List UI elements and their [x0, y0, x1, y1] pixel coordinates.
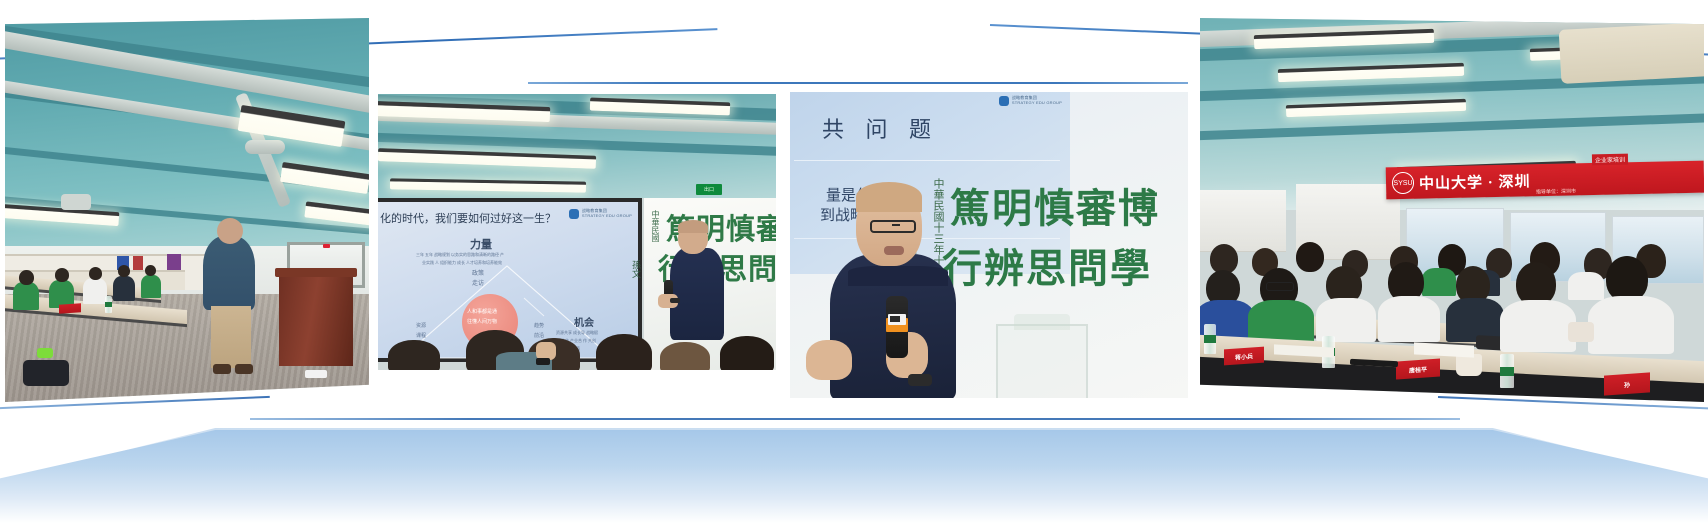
audience-head [720, 336, 774, 370]
slide-circle-line-2: 往懂人间万物 [467, 318, 497, 325]
sysu-seal-icon: SYSU [1392, 172, 1414, 194]
name-card-1: 蒋小兵 [1224, 347, 1264, 366]
slide-logo-mark [999, 96, 1009, 106]
photo-participants-room[interactable]: SYSU 中山大学 · 深圳 企业家培训 指导单位：深圳市 [1200, 18, 1704, 402]
slide-headline: 共 问 题 [822, 112, 939, 144]
audience-head [660, 342, 710, 370]
window-blind-1 [1200, 190, 1286, 252]
photo-speaker-closeup[interactable]: 战略教育集团 STRATEGY EDU GROUP 共 问 题 量是什么？ 到战… [790, 92, 1188, 398]
red-banner-top-right-text: 企业家培训 [1592, 154, 1628, 166]
audience-head [388, 340, 440, 370]
ceiling-pipe-junction [245, 140, 285, 154]
slide-logo-mark [569, 209, 579, 219]
table-name-card [59, 303, 81, 314]
slide-logo: 战略教育集团 STRATEGY EDU GROUP [569, 209, 632, 219]
water-bottle [1204, 324, 1216, 354]
slide-logo-text-2: STRATEGY EDU GROUP [1012, 100, 1062, 105]
slide-node-top-sub-1: 三年 五年 战略规划 以务实的思路和清晰的路径 产 [416, 252, 504, 258]
slide-node-right-2: 前沿 [534, 332, 544, 339]
name-card-2: 唐桂平 [1396, 358, 1440, 379]
blue-gradient-band [0, 430, 1708, 523]
red-banner-main-text: 中山大学 · 深圳 [1419, 170, 1531, 193]
slide-node-center-top-2: 走访 [472, 278, 484, 287]
slide-logo-text-2: STRATEGY EDU GROUP [582, 213, 632, 218]
photo-banner-stage: 出口 战略教育集团 STRATEGY EDU GROUP 化的时代，我们要如何过… [0, 0, 1708, 523]
eyeglasses-icon [1266, 282, 1294, 291]
calligraphy-side-right: 中華民國 [650, 210, 661, 242]
calligraphy-col-2: 行辨思問學 [942, 236, 1152, 294]
slide-headline: 化的时代，我们要如何过好这一生？ [380, 210, 556, 226]
name-card-label: 孙 [1624, 379, 1630, 388]
slide-node-center-top: 政策 [472, 268, 484, 277]
slide-circle-line-1: 人和事都是通 [467, 308, 497, 315]
slide-node-right: 趋势 [534, 322, 544, 329]
water-bottle [1500, 354, 1514, 388]
calligraphy-col-1: 篤明慎審博 [950, 176, 1160, 234]
slide-node-br-sub-1: 资源共享 成长导 战略赋 [556, 330, 598, 336]
horizontal-accent-line-bottom [250, 418, 1460, 420]
slide-logo: 战略教育集团 STRATEGY EDU GROUP [999, 96, 1062, 106]
water-bottle [105, 296, 112, 313]
projector [61, 194, 91, 210]
slide-node-left-2: 课程 [416, 332, 426, 339]
calligraphy-side-left: 孫文 [630, 260, 643, 278]
tablet-device [1568, 322, 1594, 342]
speaker-hand-left [806, 340, 852, 380]
horizontal-accent-line-top [528, 82, 1188, 84]
name-card-label: 蒋小兵 [1235, 351, 1253, 361]
presenter-figure [670, 248, 724, 340]
audience-head [596, 334, 652, 370]
exit-sign: 出口 [696, 184, 722, 195]
slide-node-top: 力量 [470, 236, 492, 252]
name-card-label: 唐桂平 [1409, 364, 1427, 374]
slide-node-left: 资源 [416, 322, 426, 329]
instructor-figure [203, 236, 255, 310]
watermark-building [996, 324, 1088, 398]
red-banner-sub-text: 指导单位：深圳市 [1536, 188, 1576, 196]
photo-presenter-with-slide[interactable]: 出口 战略教育集团 STRATEGY EDU GROUP 化的时代，我们要如何过… [378, 94, 776, 370]
photo-left-classroom[interactable] [5, 18, 369, 402]
name-card-3: 孙 [1604, 372, 1650, 395]
eyeglasses-icon [870, 220, 916, 233]
slide-node-bottom-right: 机会 [574, 314, 594, 329]
wooden-lectern [279, 270, 353, 366]
wrist-watch [908, 374, 932, 386]
exit-sign-label: 出口 [704, 186, 714, 193]
